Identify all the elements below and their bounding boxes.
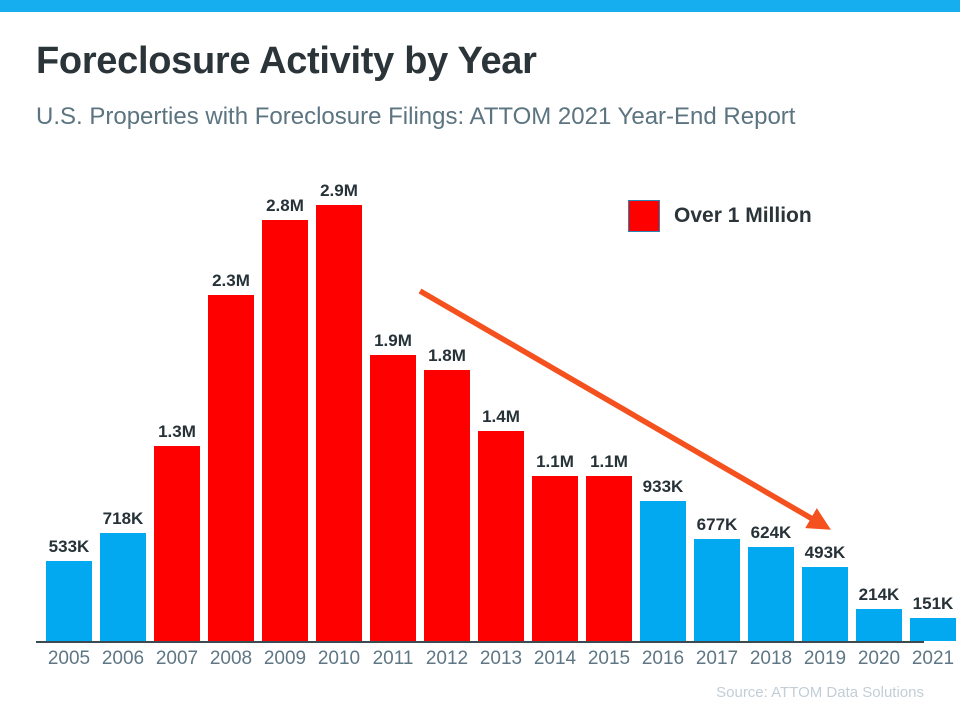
bar-value-label-2017: 677K xyxy=(683,515,751,535)
x-tick-2012: 2012 xyxy=(418,648,476,670)
x-tick-2017: 2017 xyxy=(688,648,746,670)
bar-2016[interactable] xyxy=(640,501,686,641)
x-tick-2013: 2013 xyxy=(472,648,530,670)
bar-value-label-2021: 151K xyxy=(899,594,960,614)
bar-2017[interactable] xyxy=(694,539,740,641)
bar-value-label-2009: 2.8M xyxy=(251,196,319,216)
bar-2021[interactable] xyxy=(910,618,956,641)
bar-2018[interactable] xyxy=(748,547,794,641)
bar-2012[interactable] xyxy=(424,370,470,641)
bar-value-label-2011: 1.9M xyxy=(359,331,427,351)
bar-value-label-2020: 214K xyxy=(845,585,913,605)
x-tick-2005: 2005 xyxy=(40,648,98,670)
legend-label-over-1-million: Over 1 Million xyxy=(674,204,812,228)
bar-2020[interactable] xyxy=(856,609,902,641)
x-tick-2020: 2020 xyxy=(850,648,908,670)
bar-value-label-2018: 624K xyxy=(737,523,805,543)
x-axis-line xyxy=(36,641,924,643)
page-subtitle: U.S. Properties with Foreclosure Filings… xyxy=(36,103,795,131)
x-tick-2007: 2007 xyxy=(148,648,206,670)
chart-legend: Over 1 Million xyxy=(628,200,812,232)
bar-2007[interactable] xyxy=(154,446,200,641)
x-tick-2010: 2010 xyxy=(310,648,368,670)
bar-value-label-2006: 718K xyxy=(89,509,157,529)
bar-2014[interactable] xyxy=(532,476,578,641)
bar-value-label-2014: 1.1M xyxy=(521,452,589,472)
bar-2010[interactable] xyxy=(316,205,362,641)
x-tick-2016: 2016 xyxy=(634,648,692,670)
bar-value-label-2012: 1.8M xyxy=(413,346,481,366)
bar-2008[interactable] xyxy=(208,295,254,641)
bar-2009[interactable] xyxy=(262,220,308,641)
x-tick-2019: 2019 xyxy=(796,648,854,670)
bar-2015[interactable] xyxy=(586,476,632,641)
bar-2013[interactable] xyxy=(478,431,524,641)
bar-2011[interactable] xyxy=(370,355,416,641)
x-tick-2006: 2006 xyxy=(94,648,152,670)
bar-2005[interactable] xyxy=(46,561,92,641)
bar-value-label-2008: 2.3M xyxy=(197,271,265,291)
bar-value-label-2016: 933K xyxy=(629,477,697,497)
top-accent-bar xyxy=(0,0,960,12)
bar-value-label-2019: 493K xyxy=(791,543,859,563)
x-tick-2021: 2021 xyxy=(904,648,960,670)
bar-value-label-2015: 1.1M xyxy=(575,452,643,472)
x-tick-2014: 2014 xyxy=(526,648,584,670)
x-tick-2018: 2018 xyxy=(742,648,800,670)
bar-value-label-2010: 2.9M xyxy=(305,181,373,201)
x-tick-2011: 2011 xyxy=(364,648,422,670)
bar-value-label-2013: 1.4M xyxy=(467,407,535,427)
bar-2019[interactable] xyxy=(802,567,848,641)
legend-swatch-over-1-million xyxy=(628,200,660,232)
bar-value-label-2007: 1.3M xyxy=(143,422,211,442)
bar-2006[interactable] xyxy=(100,533,146,641)
x-tick-2009: 2009 xyxy=(256,648,314,670)
bar-value-label-2005: 533K xyxy=(35,537,103,557)
x-tick-2008: 2008 xyxy=(202,648,260,670)
source-credit: Source: ATTOM Data Solutions xyxy=(716,684,924,701)
page-title: Foreclosure Activity by Year xyxy=(36,40,537,83)
x-tick-2015: 2015 xyxy=(580,648,638,670)
